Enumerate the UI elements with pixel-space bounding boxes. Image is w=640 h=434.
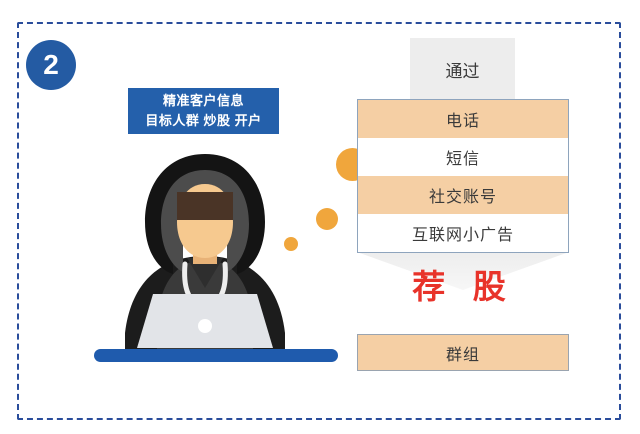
group-label: 群组 [446, 341, 480, 365]
step-number-badge: 2 [26, 40, 76, 90]
channel-row: 短信 [358, 138, 568, 176]
caption-line-2: 目标人群 炒股 开户 [145, 111, 261, 131]
decorative-dot-medium [316, 208, 338, 230]
channel-row: 社交账号 [358, 176, 568, 214]
laptop-logo-icon [198, 319, 212, 333]
step-number-label: 2 [43, 51, 59, 79]
channel-row: 互联网小广告 [358, 214, 568, 252]
funnel-pass-label: 通过 [410, 57, 515, 82]
channel-label: 电话 [446, 107, 480, 131]
channel-label: 社交账号 [429, 183, 497, 207]
group-box: 群组 [357, 334, 569, 371]
channel-label: 短信 [446, 145, 480, 169]
headline-text: 荐 股 [357, 268, 569, 306]
desk-bar [94, 349, 338, 362]
decorative-dot-small [284, 237, 298, 251]
channel-table: 电话 短信 社交账号 互联网小广告 [357, 99, 569, 253]
caption-line-1: 精准客户信息 [163, 91, 244, 111]
eye-mask-icon [177, 192, 233, 220]
caption-box: 精准客户信息 目标人群 炒股 开户 [128, 88, 279, 134]
channel-row: 电话 [358, 100, 568, 138]
hacker-illustration [95, 148, 315, 363]
channel-label: 互联网小广告 [412, 221, 514, 245]
